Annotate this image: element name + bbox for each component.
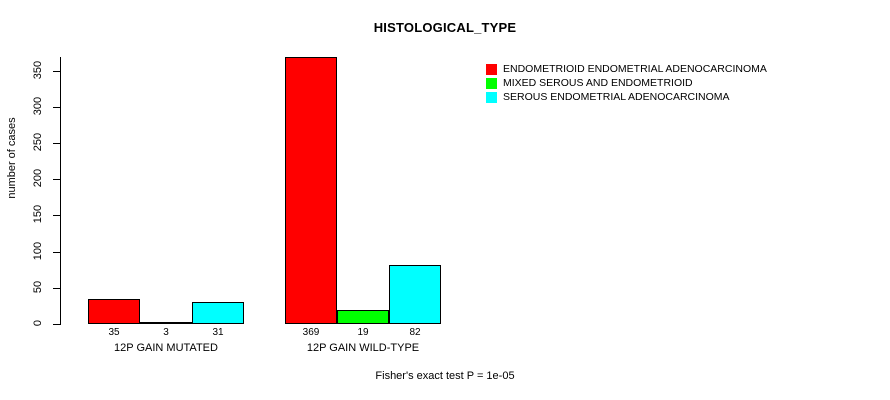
y-axis-tick-label: 350	[32, 55, 44, 85]
bar[interactable]	[192, 302, 244, 324]
bar[interactable]	[285, 57, 337, 324]
y-axis-tick	[53, 324, 60, 325]
y-axis-title: number of cases	[6, 108, 18, 208]
y-axis-tick-label: 100	[32, 236, 44, 266]
legend-label: MIXED SEROUS AND ENDOMETRIOID	[503, 78, 693, 89]
y-axis-tick	[53, 179, 60, 180]
y-axis-tick	[53, 252, 60, 253]
bar[interactable]	[140, 322, 192, 324]
legend-color-swatch	[486, 64, 497, 75]
y-axis-tick-label: 250	[32, 127, 44, 157]
bar-value-label: 19	[337, 327, 389, 338]
barplot-figure: HISTOLOGICAL_TYPE 050100150200250300350 …	[0, 0, 890, 400]
legend-label: ENDOMETRIOID ENDOMETRIAL ADENOCARCINOMA	[503, 64, 767, 75]
legend-color-swatch	[486, 92, 497, 103]
group-label: 12P GAIN WILD-TYPE	[245, 342, 481, 354]
plot-area	[60, 57, 460, 324]
legend-label: SEROUS ENDOMETRIAL ADENOCARCINOMA	[503, 92, 730, 103]
bar[interactable]	[337, 310, 389, 324]
legend-color-swatch	[486, 78, 497, 89]
y-axis-tick-label: 300	[32, 91, 44, 121]
legend-item[interactable]: MIXED SEROUS AND ENDOMETRIOID	[486, 77, 767, 90]
legend-item[interactable]: ENDOMETRIOID ENDOMETRIAL ADENOCARCINOMA	[486, 63, 767, 76]
legend: ENDOMETRIOID ENDOMETRIAL ADENOCARCINOMAM…	[486, 63, 767, 105]
bar-value-label: 31	[192, 327, 244, 338]
y-axis-tick	[53, 107, 60, 108]
y-axis-tick-label: 0	[32, 308, 44, 338]
y-axis-tick	[53, 215, 60, 216]
y-axis-tick	[53, 143, 60, 144]
bar-value-label: 82	[389, 327, 441, 338]
y-axis-tick	[53, 71, 60, 72]
y-axis-tick	[53, 288, 60, 289]
bar-value-label: 35	[88, 327, 140, 338]
bar-value-label: 3	[140, 327, 192, 338]
y-axis-tick-label: 50	[32, 272, 44, 302]
legend-item[interactable]: SEROUS ENDOMETRIAL ADENOCARCINOMA	[486, 91, 767, 104]
bar[interactable]	[88, 299, 140, 324]
page-title: HISTOLOGICAL_TYPE	[0, 20, 890, 35]
y-axis-tick-label: 150	[32, 199, 44, 229]
statistical-test-note: Fisher's exact test P = 1e-05	[0, 370, 890, 382]
bar-value-label: 369	[285, 327, 337, 338]
y-axis-tick-label: 200	[32, 163, 44, 193]
bar[interactable]	[389, 265, 441, 324]
